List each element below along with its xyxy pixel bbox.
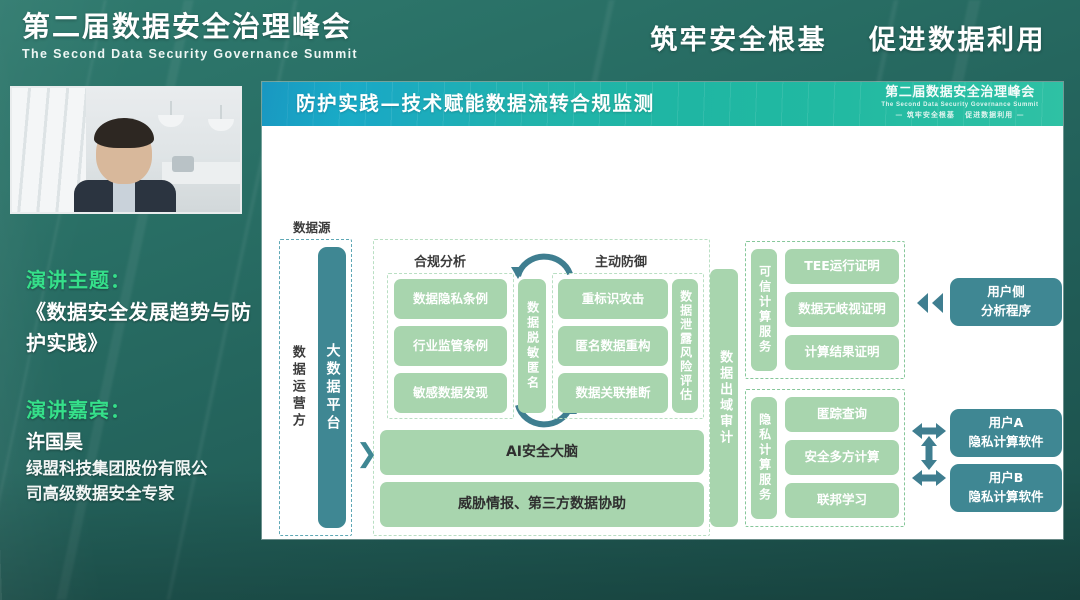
- privacy-compute-item-0[interactable]: 匿踪查询: [785, 397, 899, 432]
- compliance-item-0[interactable]: 数据隐私条例: [394, 279, 507, 319]
- slide-title-bar: 防护实践—技术赋能数据流转合规监测 第二届数据安全治理峰会 The Second…: [262, 82, 1063, 126]
- user-box-2-line2: 隐私计算软件: [968, 488, 1043, 507]
- talk-guest-label: 演讲嘉宾：: [26, 395, 256, 425]
- trusted-compute-label: 可信计算服务: [751, 249, 777, 371]
- slide-logo-en: The Second Data Security Governance Summ…: [871, 101, 1049, 110]
- compliance-item-2[interactable]: 敏感数据发现: [394, 373, 507, 413]
- defense-item-2[interactable]: 数据关联推断: [558, 373, 668, 413]
- privacy-compute-item-1[interactable]: 安全多方计算: [785, 440, 899, 475]
- slide-logo-cn: 第二届数据安全治理峰会: [871, 85, 1049, 101]
- privacy-compute-label: 隐私计算服务: [751, 397, 777, 519]
- speaker-webcam-thumbnail[interactable]: [10, 86, 242, 214]
- talk-guest-org-line1: 绿盟科技集团股份有限公: [26, 456, 256, 481]
- presentation-slide: 防护实践—技术赋能数据流转合规监测 第二届数据安全治理峰会 The Second…: [262, 82, 1063, 539]
- trusted-compute-item-1[interactable]: 数据无岐视证明: [785, 292, 899, 327]
- talk-guest-org-line2: 司高级数据安全专家: [26, 481, 256, 506]
- ai-security-brain-box[interactable]: AI安全大脑: [380, 430, 704, 475]
- user-box-0[interactable]: 用户侧 分析程序: [950, 278, 1062, 326]
- privacy-compute-item-2[interactable]: 联邦学习: [785, 483, 899, 518]
- double-chevron-left-icon: [914, 291, 946, 315]
- label-active-defense: 主动防御: [595, 251, 647, 270]
- compliance-item-1[interactable]: 行业监管条例: [394, 326, 507, 366]
- operator-label: 数据运营方: [286, 327, 308, 447]
- slide-logo-sub-right: 促进数据利用: [965, 111, 1013, 119]
- slide-logo-sub-left: 筑牢安全根基: [907, 111, 955, 119]
- user-box-1-line1: 用户A: [968, 414, 1043, 433]
- data-egress-audit-box[interactable]: 数据出域审计: [710, 269, 738, 527]
- talk-guest-name: 许国昊: [26, 428, 256, 456]
- user-box-1-line2: 隐私计算软件: [968, 433, 1043, 452]
- talk-topic-title: 《数据安全发展趋势与防护实践》: [26, 297, 256, 359]
- webcam-person-shirt: [113, 182, 135, 214]
- slide-logo-dash-left: —: [895, 111, 903, 119]
- slide-corner-logo: 第二届数据安全治理峰会 The Second Data Security Gov…: [871, 85, 1049, 121]
- event-logo-cn: 第二届数据安全治理峰会: [22, 10, 358, 44]
- trusted-compute-item-0[interactable]: TEE运行证明: [785, 249, 899, 284]
- threat-intel-box[interactable]: 威胁情报、第三方数据协助: [380, 482, 704, 527]
- label-compliance-analysis: 合规分析: [414, 251, 466, 270]
- double-arrow-horizontal-icon: [912, 465, 946, 491]
- leak-risk-assessment-box[interactable]: 数据泄露风险评估: [672, 279, 698, 413]
- label-data-source: 数据源: [293, 217, 331, 236]
- slide-logo-sub: — 筑牢安全根基 促进数据利用 —: [871, 110, 1049, 121]
- user-box-1[interactable]: 用户A 隐私计算软件: [950, 409, 1062, 457]
- talk-topic-label: 演讲主题：: [26, 265, 256, 295]
- user-box-2-line1: 用户B: [968, 469, 1043, 488]
- speaker-info-panel: 演讲主题： 《数据安全发展趋势与防护实践》 演讲嘉宾： 许国昊 绿盟科技集团股份…: [26, 265, 256, 506]
- user-box-0-line2: 分析程序: [981, 302, 1031, 321]
- big-data-platform-box: 大数据平台: [318, 247, 346, 528]
- slide-diagram: 数据源 数据运营方 大数据平台 ❯ 合规分析 主动防御 数据隐私条例 行业监管条…: [262, 126, 1063, 539]
- webcam-chair: [172, 156, 194, 172]
- user-box-0-line1: 用户侧: [981, 283, 1031, 302]
- user-box-2[interactable]: 用户B 隐私计算软件: [950, 464, 1062, 512]
- slide-title: 防护实践—技术赋能数据流转合规监测: [296, 82, 655, 126]
- event-slogan-left: 筑牢安全根基: [650, 25, 827, 56]
- trusted-compute-item-2[interactable]: 计算结果证明: [785, 335, 899, 370]
- event-logo: 第二届数据安全治理峰会 The Second Data Security Gov…: [22, 10, 358, 63]
- data-desensitize-box[interactable]: 数据脱敏匿名: [518, 279, 546, 413]
- defense-item-1[interactable]: 匿名数据重构: [558, 326, 668, 366]
- event-slogan-right: 促进数据利用: [869, 25, 1046, 56]
- event-slogan: 筑牢安全根基 促进数据利用: [650, 18, 1046, 57]
- slide-logo-dash-right: —: [1017, 111, 1025, 119]
- event-logo-en: The Second Data Security Governance Summ…: [22, 45, 358, 63]
- defense-item-0[interactable]: 重标识攻击: [558, 279, 668, 319]
- event-banner: 第二届数据安全治理峰会 The Second Data Security Gov…: [0, 0, 1080, 82]
